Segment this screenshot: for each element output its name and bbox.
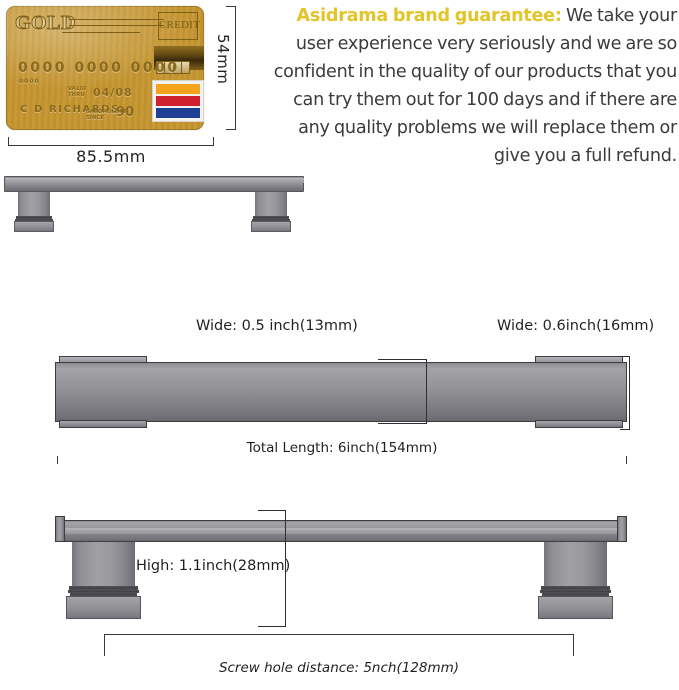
width-leader-line-top <box>378 359 427 360</box>
card-since-year: 90 <box>116 105 134 120</box>
card-height-dimension-label: 54mm <box>214 34 232 84</box>
handle-mount-pad-left <box>59 356 147 428</box>
handle-leg-base <box>66 596 141 619</box>
total-length-label-wrap: Total Length: 6inch(154mm) <box>57 440 627 456</box>
credit-card-graphic: GOLD CREDIT 0000 0000 0000 0000 VALID TH… <box>6 6 204 130</box>
card-number: 0000 0000 0000 <box>18 60 180 76</box>
flag-band-orange <box>156 84 200 94</box>
handle-leg-post <box>255 192 287 216</box>
handle-bar-highlight <box>6 178 304 183</box>
card-sub-number: 0000 <box>19 78 40 85</box>
card-flag-badge <box>152 80 204 122</box>
handle-leg-post <box>544 542 607 586</box>
card-valid-thru-label: VALID THRU <box>68 86 87 98</box>
flag-band-red <box>156 96 200 106</box>
mount-pad-edge <box>535 420 623 428</box>
post-width-label: Wide: 0.6inch(16mm) <box>497 318 654 334</box>
diagram-top-view: Wide: 0.5 inch(13mm) Wide: 0.6inch(16mm)… <box>0 318 679 468</box>
flag-band-blue <box>156 108 200 118</box>
card-rule-line <box>69 25 164 26</box>
brand-guarantee-text: Asidrama brand guarantee: We take your u… <box>266 2 677 170</box>
card-credit-box: CREDIT <box>158 12 198 40</box>
handle-leg-left <box>14 192 54 226</box>
top-section: GOLD CREDIT 0000 0000 0000 0000 VALID TH… <box>0 0 679 172</box>
width-leader-line-vertical <box>426 359 427 424</box>
handle-leg-left <box>66 542 141 620</box>
handle-top-view-graphic <box>55 356 627 428</box>
height-dimension-tick-top <box>258 510 286 511</box>
handle-bar <box>4 176 304 192</box>
handle-leg-right <box>251 192 291 226</box>
screw-hole-dimension-bracket <box>104 634 574 656</box>
height-dimension-tick-bottom <box>258 626 286 627</box>
handle-mount-pad-right <box>535 356 623 428</box>
card-width-dimension-bracket <box>8 137 214 146</box>
handle-leg-right <box>538 542 613 620</box>
card-rule-line <box>62 32 140 33</box>
mount-pad-edge <box>535 356 623 363</box>
height-label: High: 1.1inch(28mm) <box>136 558 290 574</box>
handle-bar-front-face <box>55 520 627 542</box>
credit-card-scale-reference: GOLD CREDIT 0000 0000 0000 0000 VALID TH… <box>4 4 254 168</box>
handle-bar-end-right <box>617 516 627 542</box>
product-photo-cabinet-pull <box>4 176 304 244</box>
brand-guarantee-body: We take your user experience very seriou… <box>274 6 677 166</box>
handle-leg-post <box>72 542 135 586</box>
handle-leg-base <box>14 221 54 232</box>
handle-bar-end-left <box>55 516 65 542</box>
width-leader-line-bottom <box>378 423 427 424</box>
handle-leg-post <box>18 192 50 216</box>
bar-width-label: Wide: 0.5 inch(13mm) <box>196 318 358 334</box>
total-length-label: Total Length: 6inch(154mm) <box>237 440 448 456</box>
brand-guarantee-heading: Asidrama brand guarantee: <box>297 6 562 26</box>
handle-leg-base <box>538 596 613 619</box>
card-valid-thru-date: 04/08 <box>93 86 133 99</box>
screw-hole-distance-label: Screw hole distance: 5nch(128mm) <box>104 660 574 676</box>
card-rule-line <box>69 19 164 20</box>
diagram-front-view: High: 1.1inch(28mm) Screw hole distance:… <box>0 498 679 690</box>
post-width-dimension-bracket <box>620 356 630 430</box>
handle-leg-base <box>251 221 291 232</box>
mount-pad-edge <box>59 420 147 428</box>
card-credit-label: CREDIT <box>159 19 197 31</box>
handle-bar-highlight <box>57 528 627 534</box>
handle-front-view-bar <box>55 514 627 542</box>
card-width-dimension-label: 85.5mm <box>8 147 214 166</box>
mount-pad-edge <box>59 356 147 363</box>
